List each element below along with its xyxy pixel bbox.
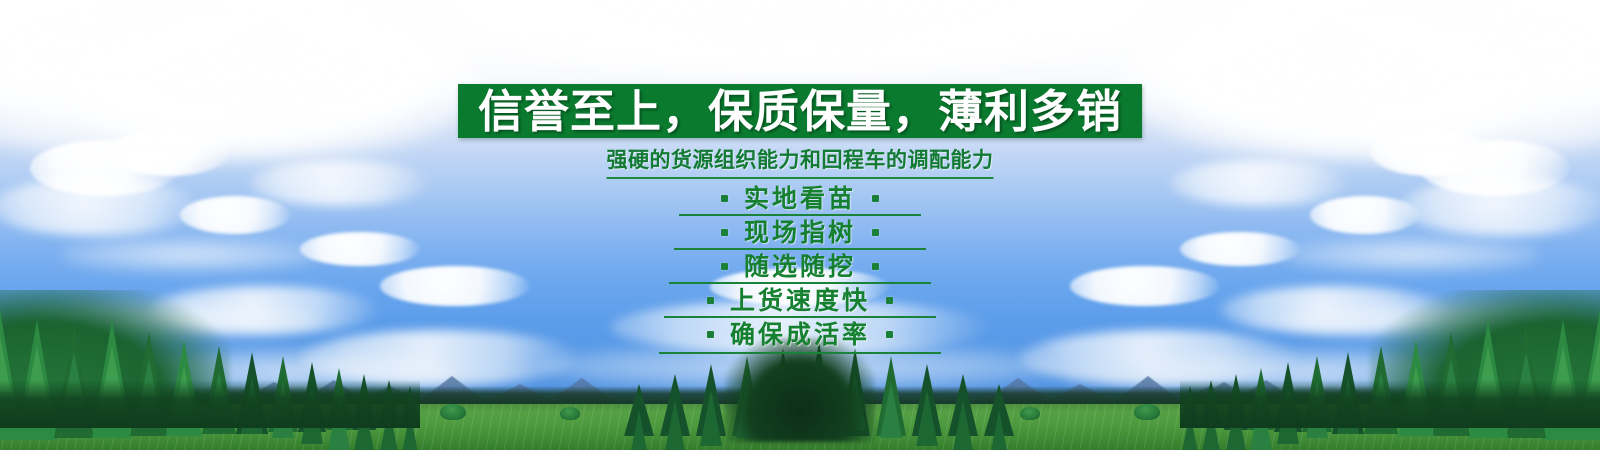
conifer-tree: [912, 364, 942, 436]
bullet-dot-icon: [872, 229, 879, 236]
subtitle-text: 强硬的货源组织能力和回程车的调配能力: [607, 144, 994, 179]
feature-item: 确保成活率: [620, 318, 980, 350]
bullet-dot-icon: [721, 195, 728, 202]
bullet-dot-icon: [872, 195, 879, 202]
bullet-dot-icon: [707, 297, 714, 304]
feature-label: 确保成活率: [730, 322, 870, 347]
feature-item: 实地看苗: [620, 182, 980, 214]
feature-label: 实地看苗: [744, 186, 856, 211]
conifer-tree: [660, 374, 690, 436]
conifer-forest-left: [0, 290, 420, 450]
conifer-tree: [624, 384, 654, 436]
field-shrub: [1020, 407, 1040, 420]
headline-banner: 信誉至上，保质保量，薄利多销: [458, 84, 1142, 138]
bullet-dot-icon: [886, 297, 893, 304]
field-shrub: [1134, 404, 1160, 420]
headline-text: 信誉至上，保质保量，薄利多销: [478, 89, 1122, 134]
field-shrub: [440, 404, 466, 420]
forest-base-shadow: [1180, 380, 1600, 428]
feature-label: 随选随挖: [744, 254, 856, 279]
bullet-dot-icon: [707, 331, 714, 338]
forest-base-shadow: [0, 380, 420, 428]
conifer-forest-right: [1180, 290, 1600, 450]
promotional-banner: 信誉至上，保质保量，薄利多销 强硬的货源组织能力和回程车的调配能力 实地看苗 现…: [0, 0, 1600, 450]
field-shrub: [560, 407, 580, 420]
conifer-tree: [948, 374, 978, 436]
bullet-dot-icon: [886, 331, 893, 338]
bullet-dot-icon: [872, 263, 879, 270]
feature-divider: [659, 352, 941, 354]
feature-label: 现场指树: [744, 220, 856, 245]
feature-item: 上货速度快: [620, 284, 980, 316]
feature-item: 随选随挖: [620, 250, 980, 282]
feature-item: 现场指树: [620, 216, 980, 248]
bullet-dot-icon: [721, 229, 728, 236]
conifer-tree: [984, 384, 1014, 436]
bullet-dot-icon: [721, 263, 728, 270]
feature-label: 上货速度快: [730, 288, 870, 313]
conifer-tree: [696, 364, 726, 436]
feature-list: 实地看苗 现场指树 随选随挖 上货速度快: [620, 182, 980, 350]
conifer-tree: [876, 356, 906, 436]
